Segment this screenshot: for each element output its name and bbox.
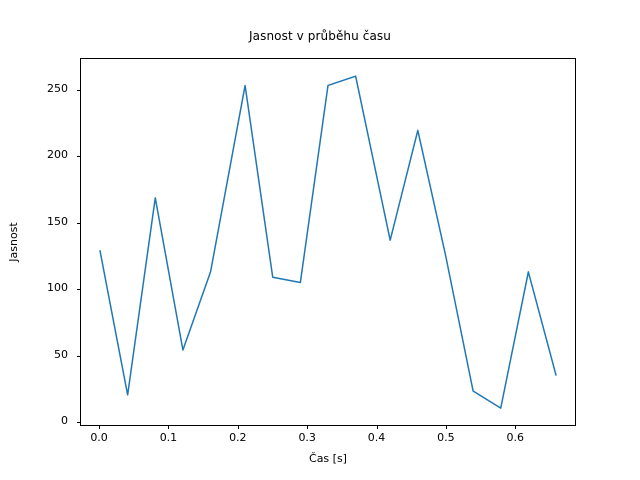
y-tick-label: 0 xyxy=(0,414,68,427)
x-tick-mark xyxy=(168,425,169,429)
x-tick-label: 0.1 xyxy=(138,431,198,444)
y-tick-mark xyxy=(77,223,81,224)
x-tick-label: 0.5 xyxy=(416,431,476,444)
y-tick-label: 100 xyxy=(0,281,68,294)
x-tick-label: 0.3 xyxy=(277,431,337,444)
x-tick-mark xyxy=(307,425,308,429)
x-tick-label: 0.2 xyxy=(208,431,268,444)
x-tick-mark xyxy=(238,425,239,429)
y-tick-label: 250 xyxy=(0,82,68,95)
chart-title: Jasnost v průběhu času xyxy=(0,29,640,43)
x-tick-label: 0.6 xyxy=(485,431,545,444)
x-tick-mark xyxy=(99,425,100,429)
data-line-jasnost xyxy=(100,76,556,408)
y-tick-label: 200 xyxy=(0,148,68,161)
x-tick-label: 0.4 xyxy=(347,431,407,444)
x-tick-mark xyxy=(446,425,447,429)
y-tick-mark xyxy=(77,422,81,423)
x-tick-mark xyxy=(377,425,378,429)
x-tick-label: 0.0 xyxy=(69,431,129,444)
y-tick-label: 150 xyxy=(0,215,68,228)
y-axis-label: Jasnost xyxy=(7,58,25,426)
plot-area xyxy=(80,58,576,426)
y-tick-mark xyxy=(77,90,81,91)
y-tick-mark xyxy=(77,156,81,157)
figure-canvas: Jasnost v průběhu času Jasnost Čas [s] 0… xyxy=(0,0,640,480)
line-series-svg xyxy=(81,59,575,425)
y-tick-mark xyxy=(77,289,81,290)
x-axis-label: Čas [s] xyxy=(80,452,576,465)
y-tick-label: 50 xyxy=(0,348,68,361)
x-tick-mark xyxy=(515,425,516,429)
y-tick-mark xyxy=(77,356,81,357)
